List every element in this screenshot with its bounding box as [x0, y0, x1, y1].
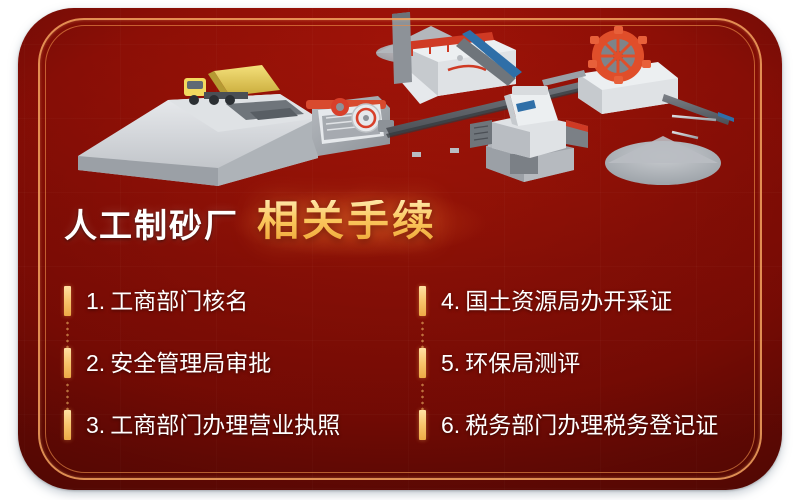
headline: 人工制砂厂 相关手续	[64, 200, 437, 242]
headline-emphasis: 相关手续	[257, 200, 437, 242]
list-item-label: 税务部门办理税务登记证	[465, 412, 718, 438]
bullet-bar-icon	[419, 348, 426, 378]
bullet-bar-icon	[419, 410, 426, 440]
list-item-label: 工商部门核名	[110, 288, 248, 314]
list-item-number: 6.	[441, 412, 460, 438]
list-item: 4.国土资源局办开采证	[419, 270, 754, 332]
vsi-sand-maker	[470, 86, 588, 182]
headline-subject: 人工制砂厂	[64, 209, 239, 242]
red-banner-panel: 人工制砂厂 相关手续 1.工商部门核名 4.国土资源局办开采证 2.安全管理局审…	[18, 8, 782, 490]
list-item-label: 环保局测评	[465, 350, 580, 376]
list-item: 6.税务部门办理税务登记证	[419, 394, 754, 456]
list-item-number: 1.	[86, 288, 105, 314]
list-item-label: 工商部门办理营业执照	[110, 412, 340, 438]
procedure-list: 1.工商部门核名 4.国土资源局办开采证 2.安全管理局审批 5.环保局测评	[64, 270, 754, 456]
list-item-number: 3.	[86, 412, 105, 438]
bullet-bar-icon	[64, 348, 71, 378]
bullet-bar-icon	[419, 286, 426, 316]
list-item: 3.工商部门办理营业执照	[64, 394, 419, 456]
bullet-bar-icon	[64, 286, 71, 316]
list-item-number: 4.	[441, 288, 460, 314]
list-item-number: 2.	[86, 350, 105, 376]
list-item-label: 国土资源局办开采证	[465, 288, 672, 314]
bullet-bar-icon	[64, 410, 71, 440]
sand-plant-illustration	[18, 8, 782, 198]
list-item: 5.环保局测评	[419, 332, 754, 394]
stockpile-large	[605, 136, 721, 185]
list-item-label: 安全管理局审批	[110, 350, 271, 376]
sand-plant-scene	[18, 8, 782, 198]
list-item-number: 5.	[441, 350, 460, 376]
list-item: 1.工商部门核名	[64, 270, 419, 332]
jaw-crusher	[306, 96, 394, 156]
list-item: 2.安全管理局审批	[64, 332, 419, 394]
poster-canvas: 人工制砂厂 相关手续 1.工商部门核名 4.国土资源局办开采证 2.安全管理局审…	[0, 0, 800, 500]
